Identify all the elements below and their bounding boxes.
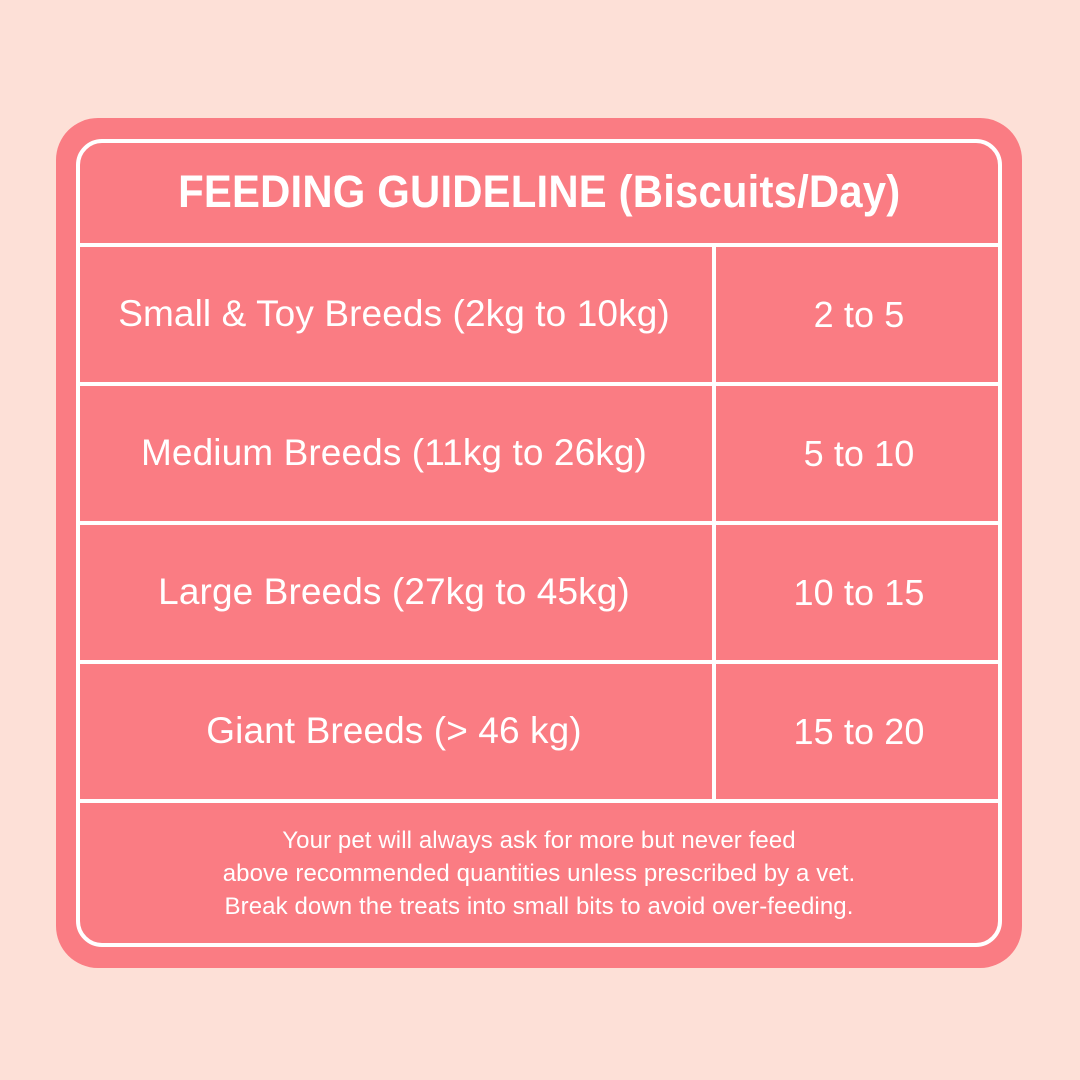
amount-value: 10 to 15	[794, 573, 925, 613]
table-row: Small & Toy Breeds (2kg to 10kg) 2 to 5	[76, 247, 1002, 386]
amount-cell: 15 to 20	[716, 664, 1002, 799]
breed-label: Medium Breeds (11kg to 26kg)	[141, 433, 647, 474]
feeding-note-line-1: Your pet will always ask for more but ne…	[223, 824, 856, 857]
breed-cell: Small & Toy Breeds (2kg to 10kg)	[76, 247, 716, 382]
breed-label: Giant Breeds (> 46 kg)	[206, 711, 581, 752]
feeding-guideline-table: FEEDING GUIDELINE (Biscuits/Day) Small &…	[76, 139, 1002, 947]
table-row: Large Breeds (27kg to 45kg) 10 to 15	[76, 525, 1002, 664]
breed-label: Small & Toy Breeds (2kg to 10kg)	[118, 294, 670, 335]
amount-cell: 2 to 5	[716, 247, 1002, 382]
breed-label: Large Breeds (27kg to 45kg)	[158, 572, 630, 613]
amount-cell: 10 to 15	[716, 525, 1002, 660]
breed-cell: Giant Breeds (> 46 kg)	[76, 664, 716, 799]
amount-value: 2 to 5	[814, 295, 905, 335]
breed-cell: Medium Breeds (11kg to 26kg)	[76, 386, 716, 521]
breed-cell: Large Breeds (27kg to 45kg)	[76, 525, 716, 660]
table-row: Giant Breeds (> 46 kg) 15 to 20	[76, 664, 1002, 803]
table-header-row: FEEDING GUIDELINE (Biscuits/Day)	[76, 139, 1002, 247]
feeding-guideline-card: FEEDING GUIDELINE (Biscuits/Day) Small &…	[56, 118, 1022, 968]
feeding-note: Your pet will always ask for more but ne…	[223, 824, 856, 923]
feeding-note-line-2: above recommended quantities unless pres…	[223, 857, 856, 890]
amount-cell: 5 to 10	[716, 386, 1002, 521]
amount-value: 15 to 20	[794, 712, 925, 752]
page-title: FEEDING GUIDELINE (Biscuits/Day)	[178, 169, 900, 214]
poster-canvas: FEEDING GUIDELINE (Biscuits/Day) Small &…	[0, 0, 1080, 1080]
table-footer-note-row: Your pet will always ask for more but ne…	[76, 803, 1002, 947]
amount-value: 5 to 10	[804, 434, 915, 474]
table-row: Medium Breeds (11kg to 26kg) 5 to 10	[76, 386, 1002, 525]
feeding-note-line-3: Break down the treats into small bits to…	[223, 890, 856, 923]
